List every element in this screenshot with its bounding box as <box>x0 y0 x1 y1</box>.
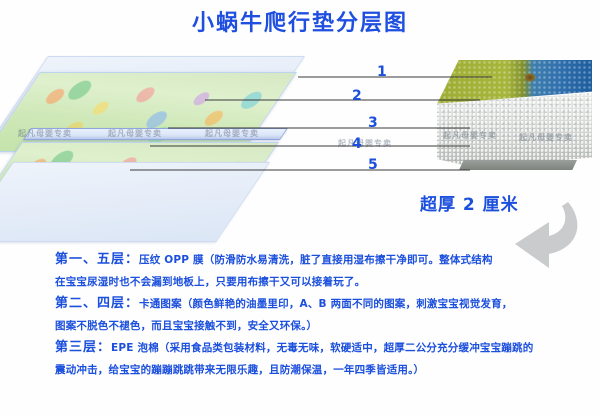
paragraph-3-line1: EPE 泡棉（采用食品类包装材料，无毒无味，软硬适中，超厚二公分充分缓冲宝宝蹦跳… <box>111 342 533 354</box>
callout-number-4: 4 <box>352 137 362 151</box>
paragraph-1: 第一、五层：压纹 OPP 膜（防滑防水易清洗，脏了直接用湿布擦干净即可。整体式结… <box>0 250 600 270</box>
callout-number-2: 2 <box>352 89 362 103</box>
layered-mat-infographic: 小蜗牛爬行垫分层图 起凡母婴专卖 起凡母婴专卖 起凡母婴专卖 起凡母婴专卖 起凡… <box>0 0 600 416</box>
paragraph-1-cont: 在宝宝尿湿时也不会漏到地板上，只要用布擦干又可以接着玩了。 <box>0 272 600 292</box>
paragraph-2-lead: 第二、四层： <box>55 296 139 311</box>
paragraph-3-cont: 震动冲击，给宝宝的蹦蹦跳跳带来无限乐趣，且防潮保温，一年四季皆适用。） <box>0 360 600 380</box>
thickness-label: 超厚 2 厘米 <box>420 190 519 215</box>
paragraph-2: 第二、四层：卡通图案（颜色鲜艳的油墨里印，A、B 两面不同的图案，刺激宝宝视觉发… <box>0 294 600 314</box>
paragraph-1-line2: 在宝宝尿湿时也不会漏到地板上，只要用布擦干又可以接着玩了。 <box>55 276 365 288</box>
paragraph-2-line1: 卡通图案（颜色鲜艳的油墨里印，A、B 两面不同的图案，刺激宝宝视觉发育， <box>139 298 512 310</box>
paragraph-3-line2: 震动冲击，给宝宝的蹦蹦跳跳带来无限乐趣，且防潮保温，一年四季皆适用。） <box>55 364 424 376</box>
callout-number-1: 1 <box>377 65 387 79</box>
diagram-area: 起凡母婴专卖 起凡母婴专卖 起凡母婴专卖 起凡母婴专卖 起凡母婴专卖 起凡母婴专… <box>0 50 600 246</box>
paragraph-2-cont: 图案不脱色不褪色，而且宝宝接触不到，安全又环保。） <box>0 316 600 336</box>
callout-number-3: 3 <box>368 116 378 130</box>
paragraph-1-line1: 压纹 OPP 膜（防滑防水易清洗，脏了直接用湿布擦干净即可。整体式结构 <box>139 254 493 266</box>
paragraph-3: 第三层：EPE 泡棉（采用食品类包装材料，无毒无味，软硬适中，超厚二公分充分缓冲… <box>0 338 600 358</box>
description-block: 第一、五层：压纹 OPP 膜（防滑防水易清洗，脏了直接用湿布擦干净即可。整体式结… <box>0 250 600 382</box>
paragraph-2-line2: 图案不脱色不褪色，而且宝宝接触不到，安全又环保。） <box>55 320 317 332</box>
paragraph-3-lead: 第三层： <box>55 340 111 355</box>
paragraph-1-lead: 第一、五层： <box>55 252 139 267</box>
callout-number-5: 5 <box>368 158 378 172</box>
page-title: 小蜗牛爬行垫分层图 <box>0 8 600 40</box>
